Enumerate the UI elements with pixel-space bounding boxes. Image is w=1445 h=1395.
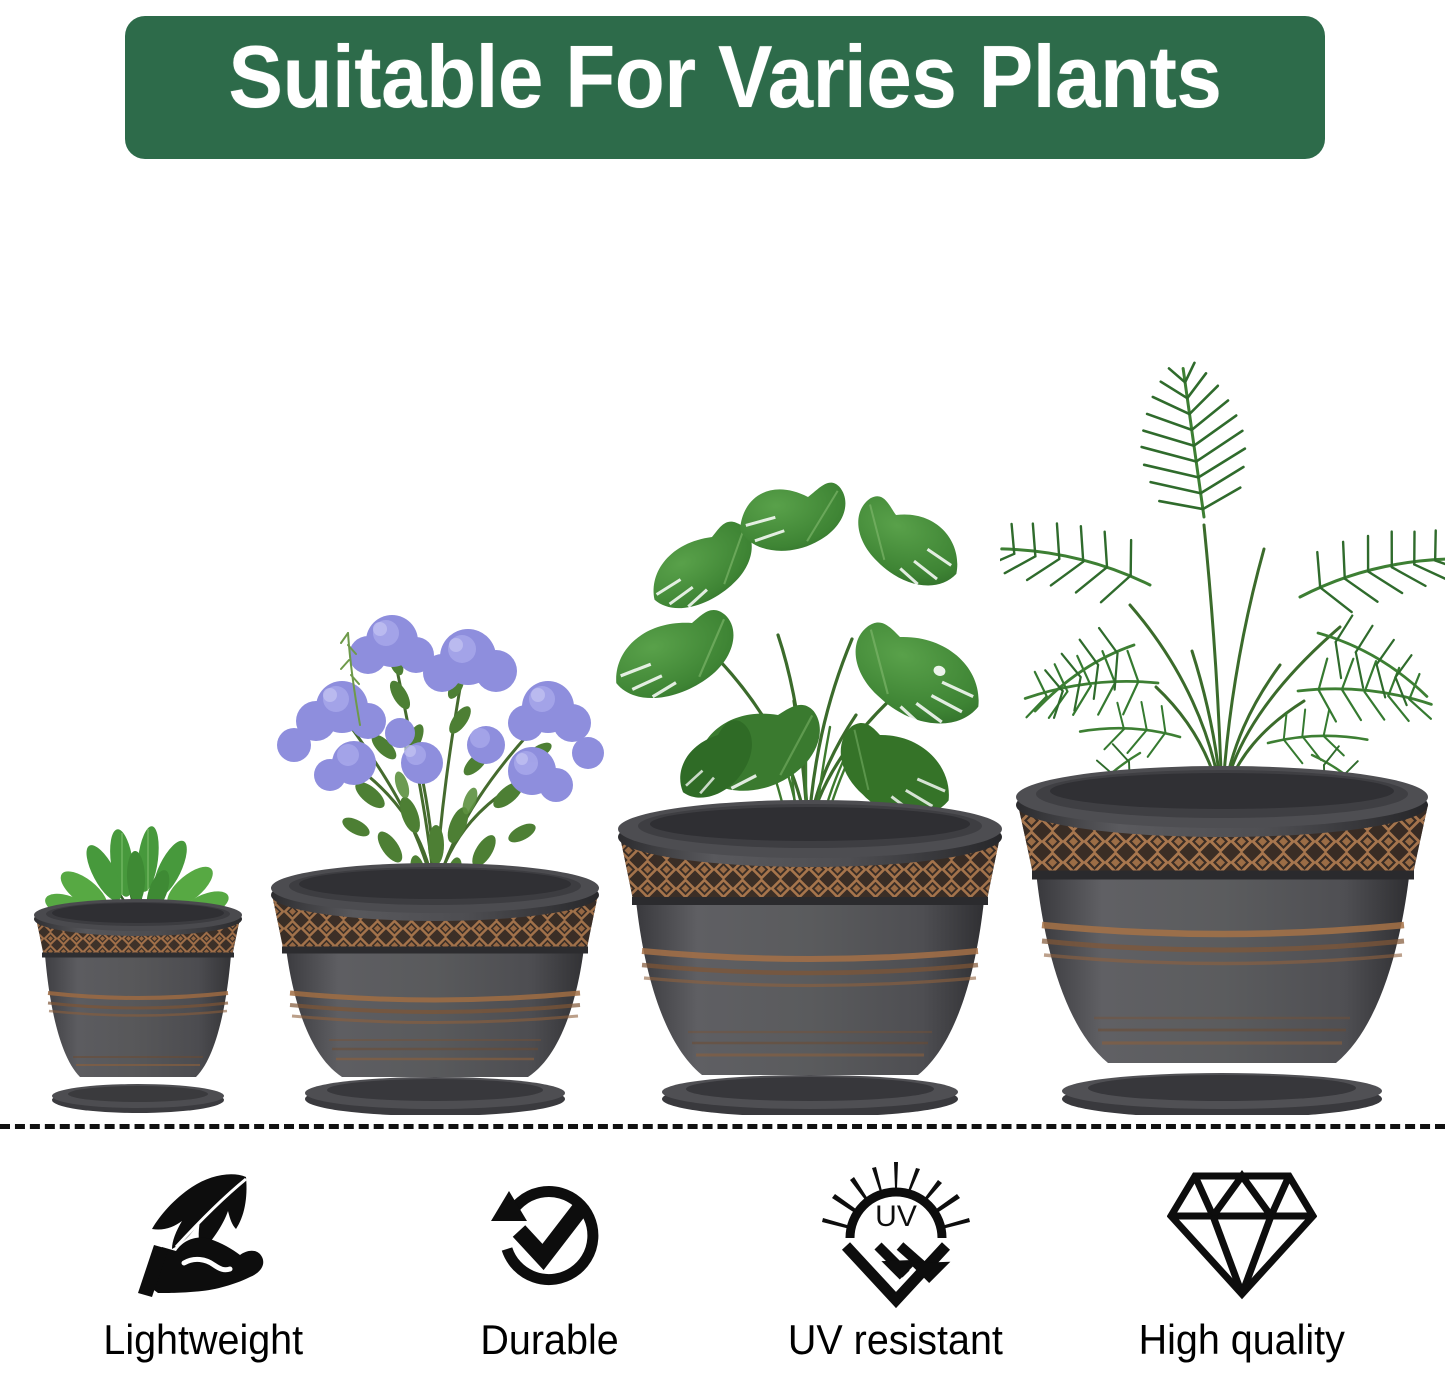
flower-clusters xyxy=(277,615,604,802)
header-banner: Suitable For Varies Plants xyxy=(125,16,1325,159)
planter-large-illustration xyxy=(600,385,1020,1115)
feature-uv-resistant: UV UV resistant xyxy=(746,1160,1046,1364)
diamond-gem-icon xyxy=(1167,1160,1317,1310)
product-group-extra-large xyxy=(1000,285,1445,1115)
planter-extra-large-illustration xyxy=(1000,285,1445,1115)
monstera-leaves xyxy=(605,482,994,827)
plant-monstera xyxy=(605,482,994,837)
plant-purple-flowering xyxy=(277,615,604,895)
feature-durable: Durable xyxy=(399,1160,699,1364)
product-showcase xyxy=(0,160,1445,1115)
feature-label-lightweight: Lightweight xyxy=(103,1316,303,1364)
section-divider xyxy=(0,1124,1445,1129)
feature-label-durable: Durable xyxy=(480,1316,618,1364)
feature-label-uv-resistant: UV resistant xyxy=(788,1316,1003,1364)
circular-arrow-checkmark-icon xyxy=(479,1160,619,1310)
product-group-large xyxy=(600,385,1020,1115)
product-group-small xyxy=(18,815,278,1115)
feature-lightweight: Lightweight xyxy=(53,1160,353,1364)
planter-medium-illustration xyxy=(250,495,620,1115)
uv-text: UV xyxy=(875,1200,917,1233)
feature-high-quality: High quality xyxy=(1092,1160,1392,1364)
page-title: Suitable For Varies Plants xyxy=(228,33,1221,121)
product-group-medium xyxy=(250,495,620,1115)
hand-holding-feather-icon xyxy=(128,1160,278,1310)
feature-label-high-quality: High quality xyxy=(1139,1316,1345,1364)
planter-small-illustration xyxy=(18,815,278,1115)
uv-sun-deflect-icon: UV xyxy=(816,1160,976,1310)
plant-areca-palm xyxy=(1000,358,1445,822)
feature-row: Lightweight Durable xyxy=(0,1160,1445,1395)
